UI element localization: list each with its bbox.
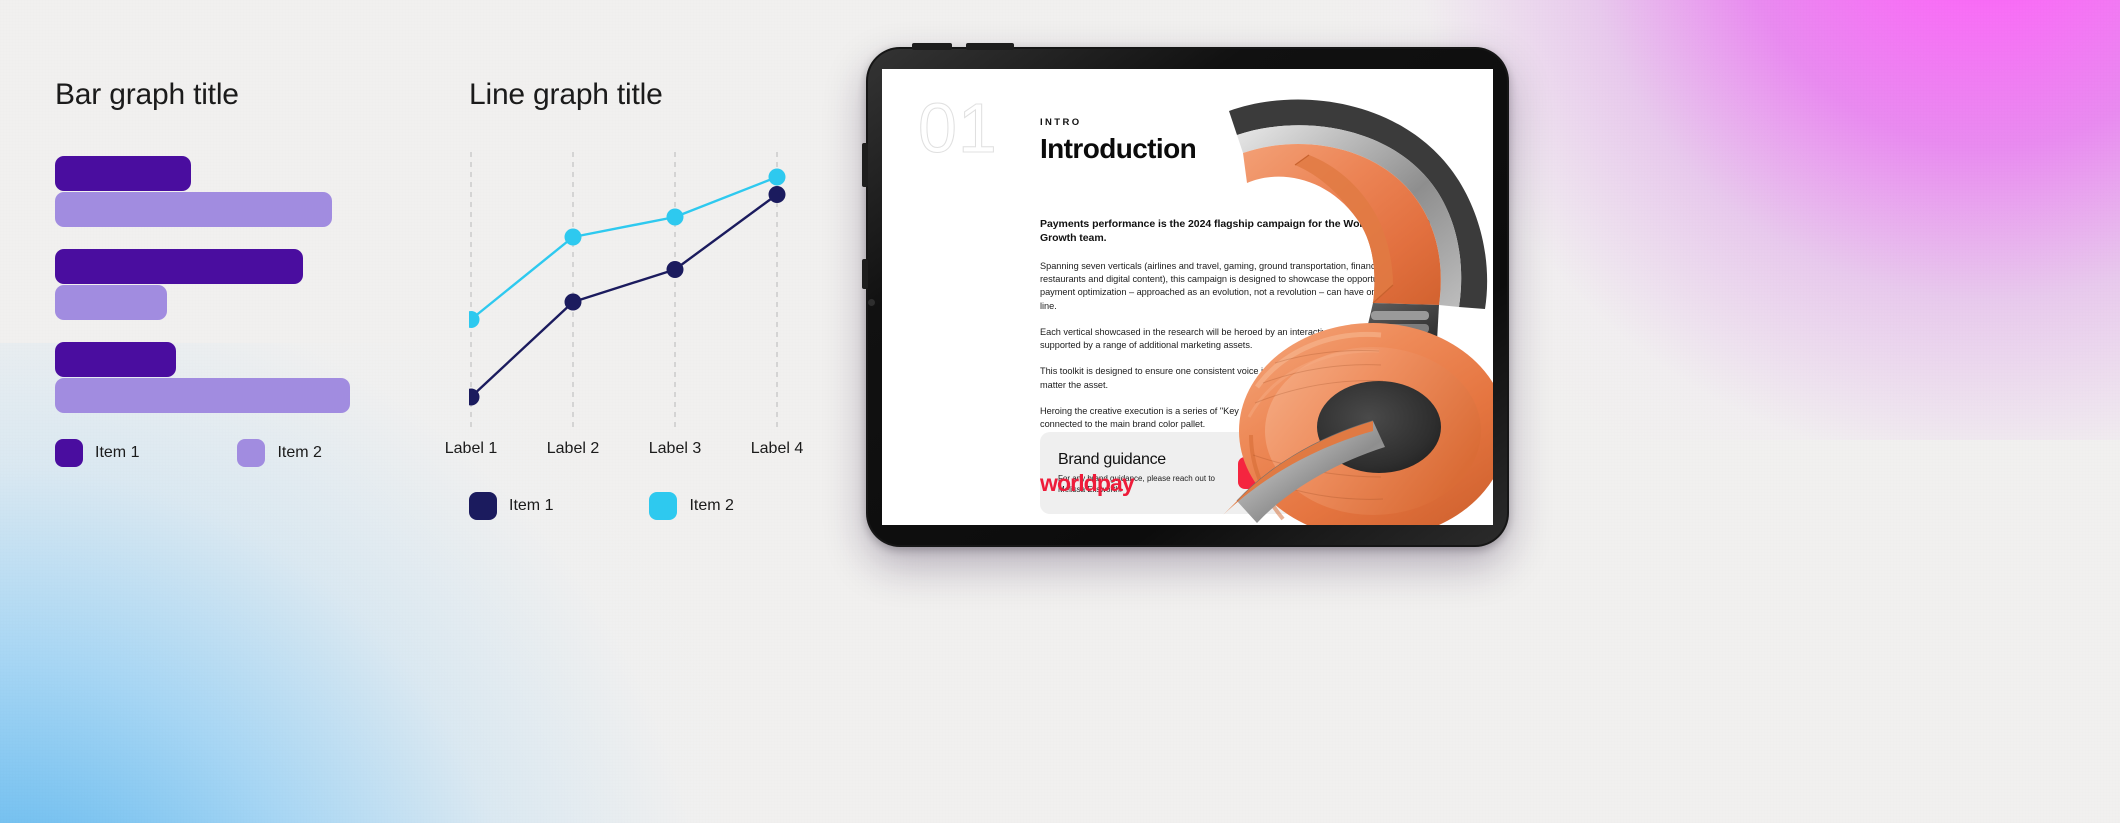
axis-label: Label 3 — [649, 440, 702, 458]
legend-label: Item 2 — [277, 444, 321, 462]
bar-row — [55, 342, 455, 377]
line-series-item-2 — [471, 177, 777, 320]
brand-guidance-title: Brand guidance — [1058, 451, 1230, 469]
legend-swatch-icon — [649, 492, 677, 520]
bar-item-2 — [55, 378, 350, 413]
headphones-hero-image — [1223, 95, 1493, 525]
legend-label: Item 2 — [689, 497, 733, 515]
bar-item-2 — [55, 192, 332, 227]
bar-row — [55, 378, 455, 413]
slide-title: Introduction — [1040, 133, 1196, 165]
data-point[interactable] — [769, 169, 786, 186]
line-chart-plot — [469, 152, 869, 432]
data-point[interactable] — [565, 294, 582, 311]
bar-row — [55, 249, 455, 284]
slide-number: 01 — [918, 97, 998, 160]
bar-chart-plot — [55, 156, 455, 413]
bar-group — [55, 156, 455, 227]
bar-chart-title: Bar graph title — [55, 78, 455, 112]
line-chart-svg — [469, 152, 869, 432]
data-point[interactable] — [667, 209, 684, 226]
tablet-device-mockup: 01 INTRO Introduction Payments performan… — [866, 47, 1509, 547]
bar-chart-legend: Item 1Item 2 — [55, 439, 455, 467]
data-point[interactable] — [565, 229, 582, 246]
line-chart-axis-labels: Label 1Label 2Label 3Label 4 — [469, 440, 869, 466]
tablet-top-button-a[interactable] — [912, 43, 952, 50]
tablet-camera-icon — [868, 299, 875, 306]
legend-label: Item 1 — [509, 497, 553, 515]
line-series-item-1 — [471, 195, 777, 398]
bar-item-1 — [55, 156, 191, 191]
legend-swatch-icon — [469, 492, 497, 520]
tablet-top-button-b[interactable] — [966, 43, 1014, 50]
line-chart: Line graph title Label 1Label 2Label 3La… — [469, 78, 889, 520]
presentation-slide: 01 INTRO Introduction Payments performan… — [882, 69, 1493, 525]
line-chart-legend: Item 1Item 2 — [469, 492, 889, 520]
bar-row — [55, 285, 455, 320]
tablet-screen: 01 INTRO Introduction Payments performan… — [882, 69, 1493, 525]
data-point[interactable] — [769, 186, 786, 203]
line-chart-title: Line graph title — [469, 78, 889, 112]
slide-heading-block: INTRO Introduction — [1040, 117, 1196, 165]
screenshot-canvas: Bar graph title Item 1Item 2 Line graph … — [0, 0, 2120, 823]
legend-label: Item 1 — [95, 444, 139, 462]
bar-item-1 — [55, 342, 176, 377]
bar-chart: Bar graph title Item 1Item 2 — [55, 78, 455, 467]
axis-label: Label 2 — [547, 440, 600, 458]
legend-swatch-icon — [55, 439, 83, 467]
bar-row — [55, 192, 455, 227]
legend-item[interactable]: Item 2 — [237, 439, 321, 467]
tablet-volume-up-button[interactable] — [862, 143, 868, 187]
axis-label: Label 1 — [445, 440, 498, 458]
data-point[interactable] — [667, 261, 684, 278]
bar-item-2 — [55, 285, 167, 320]
bar-group — [55, 342, 455, 413]
legend-item[interactable]: Item 1 — [55, 439, 139, 467]
legend-item[interactable]: Item 2 — [649, 492, 733, 520]
tablet-volume-down-button[interactable] — [862, 259, 868, 289]
legend-item[interactable]: Item 1 — [469, 492, 553, 520]
worldpay-logo: worldpay — [1040, 470, 1134, 497]
bar-row — [55, 156, 455, 191]
bar-item-1 — [55, 249, 303, 284]
axis-label: Label 4 — [751, 440, 804, 458]
bar-group — [55, 249, 455, 320]
legend-swatch-icon — [237, 439, 265, 467]
slide-eyebrow: INTRO — [1040, 117, 1196, 128]
